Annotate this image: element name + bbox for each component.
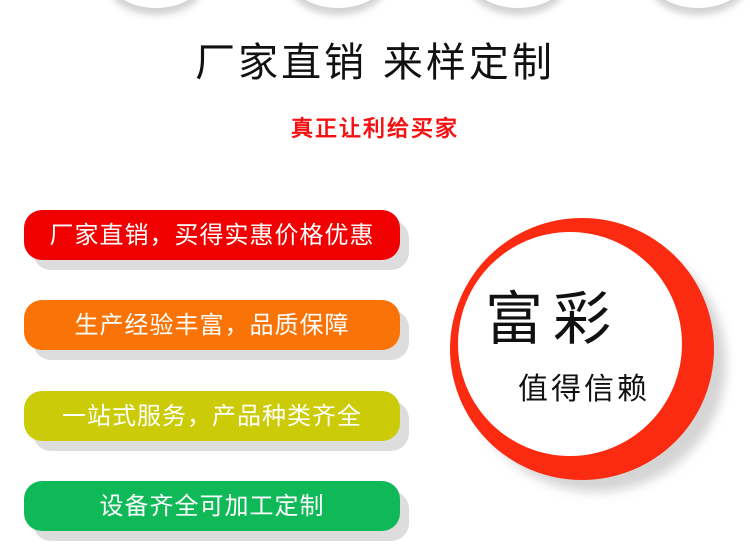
feature-pill-label: 厂家直销，买得实惠价格优惠: [50, 220, 375, 250]
brand-ring-content: 富彩 值得信赖: [458, 232, 682, 456]
promo-banner: 厂家直销 来样定制 真正让利给买家 厂家直销，买得实惠价格优惠 生产经验丰富，品…: [0, 0, 750, 556]
top-bubble-shadow-3: [470, 0, 566, 8]
feature-pill-one-stop-service: 一站式服务，产品种类齐全: [24, 391, 400, 441]
brand-badge: 富彩 值得信赖: [450, 218, 720, 482]
brand-name: 富彩: [458, 288, 648, 350]
feature-pill-production-experience: 生产经验丰富，品质保障: [24, 300, 400, 350]
brand-tagline: 值得信赖: [486, 372, 682, 408]
page-title: 厂家直销 来样定制: [0, 38, 750, 88]
top-bubble-shadow-2: [290, 0, 386, 8]
feature-pill-label: 设备齐全可加工定制: [100, 491, 325, 521]
feature-pill-equipment-customization: 设备齐全可加工定制: [24, 481, 400, 531]
feature-pill-label: 生产经验丰富，品质保障: [75, 310, 350, 340]
top-bubble-shadow-1: [108, 0, 204, 8]
page-subtitle: 真正让利给买家: [0, 114, 750, 144]
feature-pill-factory-direct: 厂家直销，买得实惠价格优惠: [24, 210, 400, 260]
feature-pill-label: 一站式服务，产品种类齐全: [62, 401, 362, 431]
top-bubble-shadow-4: [650, 0, 746, 8]
